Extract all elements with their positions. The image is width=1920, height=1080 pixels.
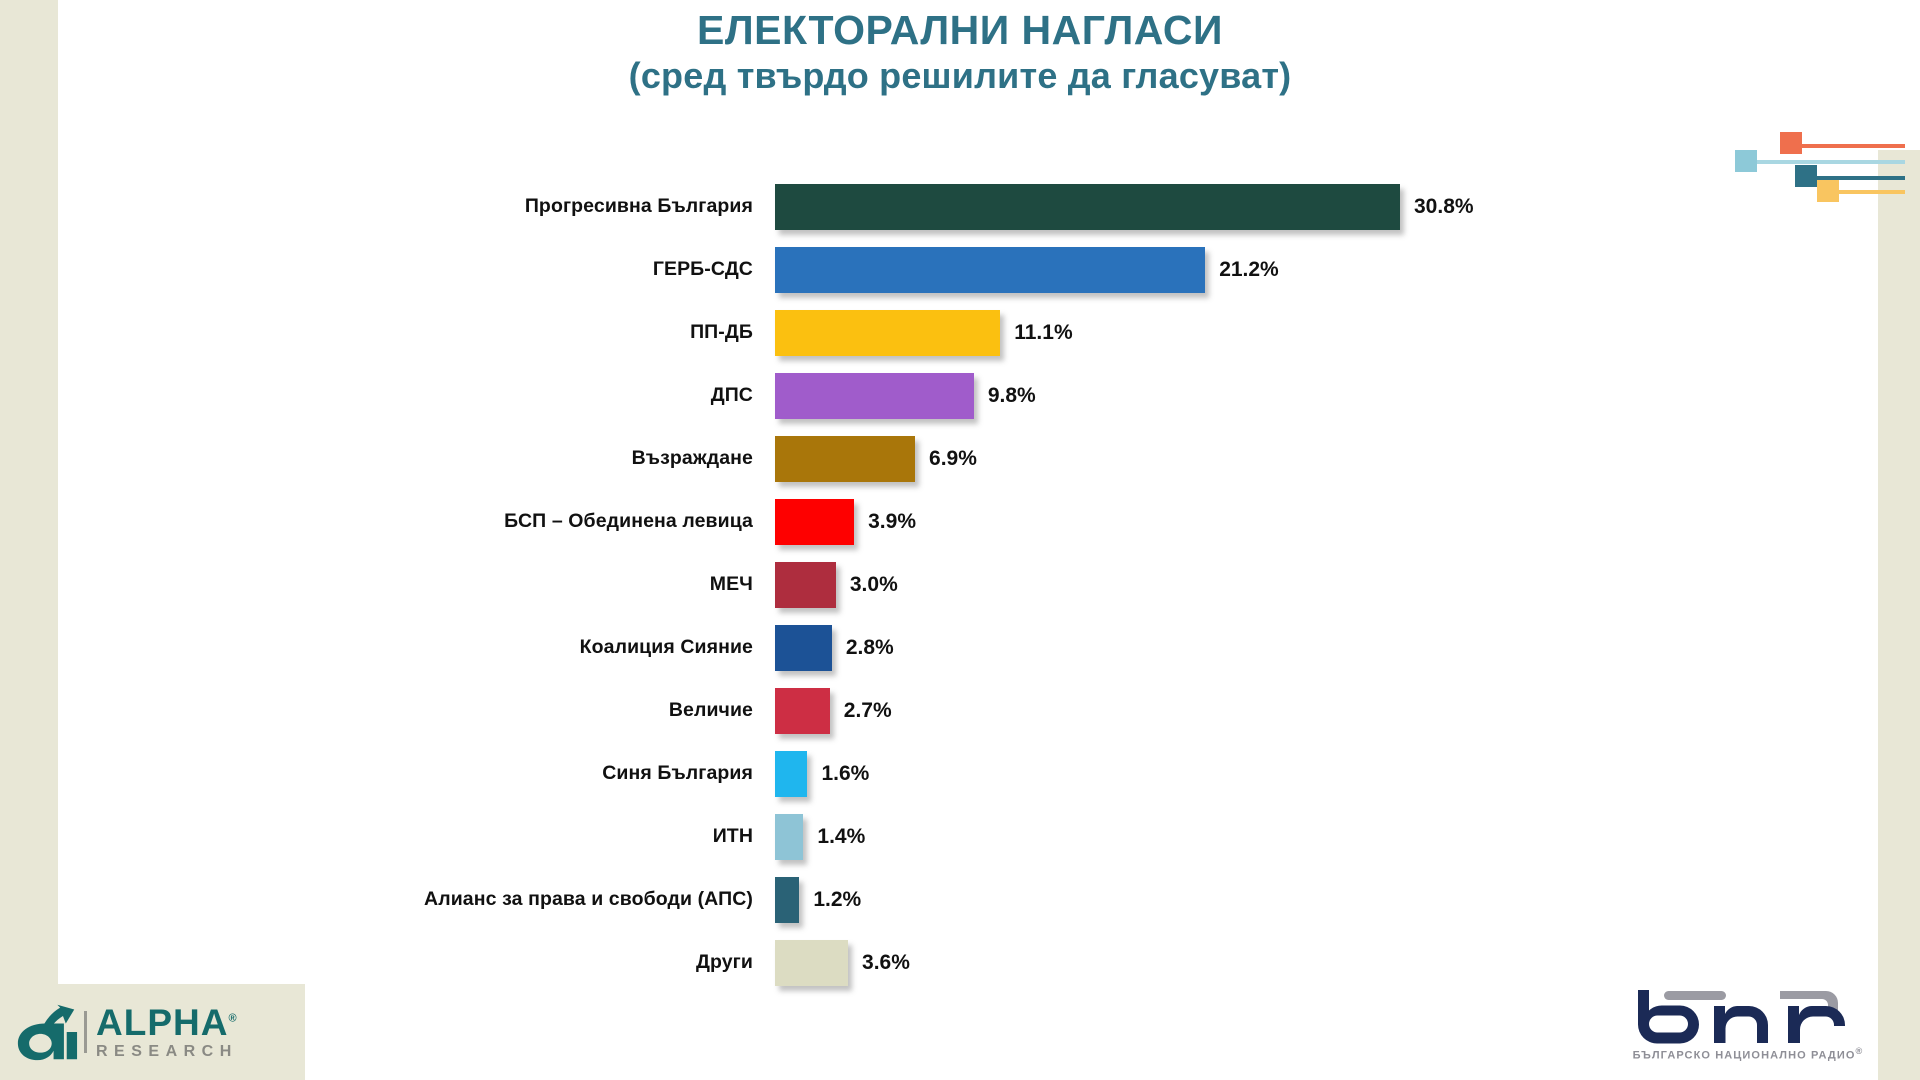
- bar-category-label: ДПС: [0, 384, 775, 407]
- bar-segment: [775, 373, 974, 419]
- bnr-registered-mark: ®: [1856, 1046, 1864, 1056]
- bar-row: Прогресивна България30.8%: [0, 175, 1920, 238]
- bar-value-label: 3.6%: [862, 951, 910, 975]
- bar-category-label: БСП – Обединена левица: [0, 510, 775, 533]
- chart-title-line-1: ЕЛЕКТОРАЛНИ НАГЛАСИ: [0, 8, 1920, 54]
- bar-track: 9.8%: [775, 373, 1920, 419]
- bar-track: 3.6%: [775, 940, 1920, 986]
- bar-value-label: 9.8%: [988, 384, 1036, 408]
- bar-segment: [775, 562, 836, 608]
- bar-row: Синя България1.6%: [0, 742, 1920, 805]
- bar-value-label: 2.7%: [844, 699, 892, 723]
- bar-category-label: Алианс за права и свободи (АПС): [0, 888, 775, 911]
- bar-track: 1.4%: [775, 814, 1920, 860]
- bar-track: 3.9%: [775, 499, 1920, 545]
- bar-row: ПП-ДБ11.1%: [0, 301, 1920, 364]
- bar-row: МЕЧ3.0%: [0, 553, 1920, 616]
- bar-track: 30.8%: [775, 184, 1920, 230]
- bar-category-label: Прогресивна България: [0, 195, 775, 218]
- bnr-logo-subtitle: БЪЛГАРСКО НАЦИОНАЛНО РАДИО®: [1628, 1046, 1868, 1062]
- bar-segment: [775, 310, 1000, 356]
- bar-segment: [775, 688, 830, 734]
- bar-row: Величие2.7%: [0, 679, 1920, 742]
- decor-square-orange: [1780, 132, 1802, 154]
- bar-segment: [775, 436, 915, 482]
- bar-value-label: 30.8%: [1414, 195, 1474, 219]
- bar-category-label: МЕЧ: [0, 573, 775, 596]
- bar-row: БСП – Обединена левица3.9%: [0, 490, 1920, 553]
- bar-track: 2.8%: [775, 625, 1920, 671]
- decor-line-light-blue: [1747, 160, 1905, 164]
- bar-value-label: 11.1%: [1014, 321, 1072, 345]
- bar-category-label: Коалиция Сияние: [0, 636, 775, 659]
- bar-track: 1.2%: [775, 877, 1920, 923]
- bar-value-label: 3.0%: [850, 573, 898, 597]
- bar-track: 6.9%: [775, 436, 1920, 482]
- chart-title-line-2: (сред твърдо решилите да гласуват): [0, 54, 1920, 98]
- bar-category-label: Други: [0, 951, 775, 974]
- bar-row: Алианс за права и свободи (АПС)1.2%: [0, 868, 1920, 931]
- bar-segment: [775, 814, 803, 860]
- bar-track: 3.0%: [775, 562, 1920, 608]
- bar-value-label: 1.4%: [817, 825, 865, 849]
- bar-row: ГЕРБ-СДС21.2%: [0, 238, 1920, 301]
- bar-segment: [775, 877, 799, 923]
- bar-category-label: ПП-ДБ: [0, 321, 775, 344]
- alpha-research-logo: ALPHA® RESEARCH: [0, 984, 305, 1080]
- bar-segment: [775, 499, 854, 545]
- bar-track: 1.6%: [775, 751, 1920, 797]
- bar-category-label: Величие: [0, 699, 775, 722]
- bar-value-label: 2.8%: [846, 636, 894, 660]
- alpha-research-mark-icon: [14, 1001, 80, 1063]
- bar-segment: [775, 625, 832, 671]
- bar-value-label: 1.6%: [821, 762, 869, 786]
- bar-segment: [775, 751, 807, 797]
- alpha-logo-subtitle: RESEARCH: [96, 1044, 238, 1060]
- bar-row: ДПС9.8%: [0, 364, 1920, 427]
- decor-square-light-blue: [1735, 150, 1757, 172]
- chart-title: ЕЛЕКТОРАЛНИ НАГЛАСИ (сред твърдо решилит…: [0, 8, 1920, 98]
- bar-segment: [775, 247, 1205, 293]
- bar-value-label: 6.9%: [929, 447, 977, 471]
- bar-chart: Прогресивна България30.8%ГЕРБ-СДС21.2%ПП…: [0, 175, 1920, 995]
- bar-row: ИТН1.4%: [0, 805, 1920, 868]
- bar-value-label: 1.2%: [813, 888, 861, 912]
- bar-value-label: 21.2%: [1219, 258, 1279, 282]
- alpha-registered-mark: ®: [228, 1013, 237, 1025]
- bar-category-label: ГЕРБ-СДС: [0, 258, 775, 281]
- bar-category-label: Възраждане: [0, 447, 775, 470]
- decor-line-orange: [1787, 144, 1905, 148]
- alpha-logo-wordmark: ALPHA®: [96, 1004, 238, 1041]
- alpha-logo-divider: [84, 1011, 87, 1053]
- bar-track: 11.1%: [775, 310, 1920, 356]
- bnr-logo: БЪЛГАРСКО НАЦИОНАЛНО РАДИО®: [1628, 986, 1868, 1062]
- bar-track: 21.2%: [775, 247, 1920, 293]
- bar-row: Възраждане6.9%: [0, 427, 1920, 490]
- bar-row: Коалиция Сияние2.8%: [0, 616, 1920, 679]
- bnr-wordmark-icon: [1628, 986, 1868, 1046]
- bar-category-label: ИТН: [0, 825, 775, 848]
- bar-segment: [775, 184, 1400, 230]
- bar-category-label: Синя България: [0, 762, 775, 785]
- bar-segment: [775, 940, 848, 986]
- bar-track: 2.7%: [775, 688, 1920, 734]
- bar-value-label: 3.9%: [868, 510, 916, 534]
